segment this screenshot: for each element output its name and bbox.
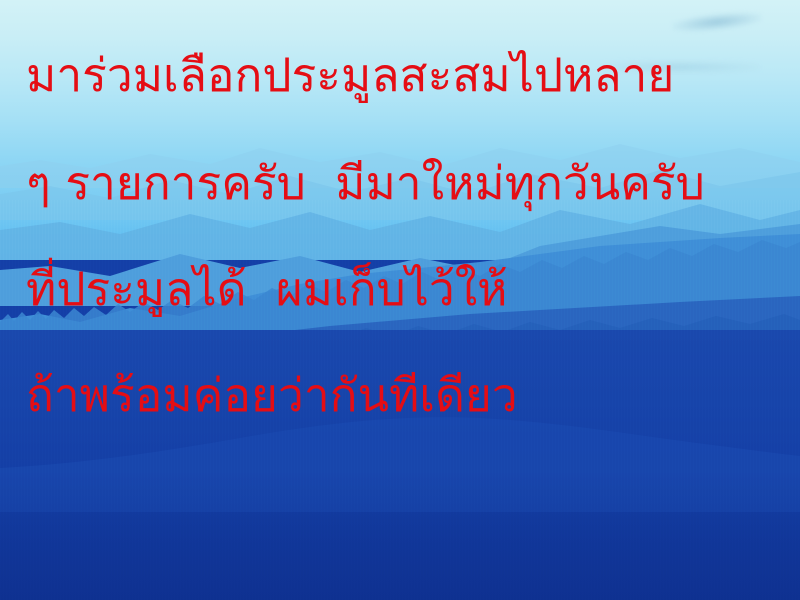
caption-line-1: มาร่วมเลือกประมูลสะสมไปหลาย: [26, 52, 796, 98]
promo-banner: มาร่วมเลือกประมูลสะสมไปหลาย ๆ รายการครับ…: [0, 0, 800, 600]
caption-line-4: ถ้าพร้อมค่อยว่ากันทีเดียว: [26, 372, 796, 418]
caption-overlay: มาร่วมเลือกประมูลสะสมไปหลาย ๆ รายการครับ…: [0, 0, 800, 600]
caption-line-2: ๆ รายการครับ มีมาใหม่ทุกวันครับ: [26, 160, 796, 206]
caption-line-3: ที่ประมูลได้ ผมเก็บไว้ให้: [26, 266, 796, 312]
